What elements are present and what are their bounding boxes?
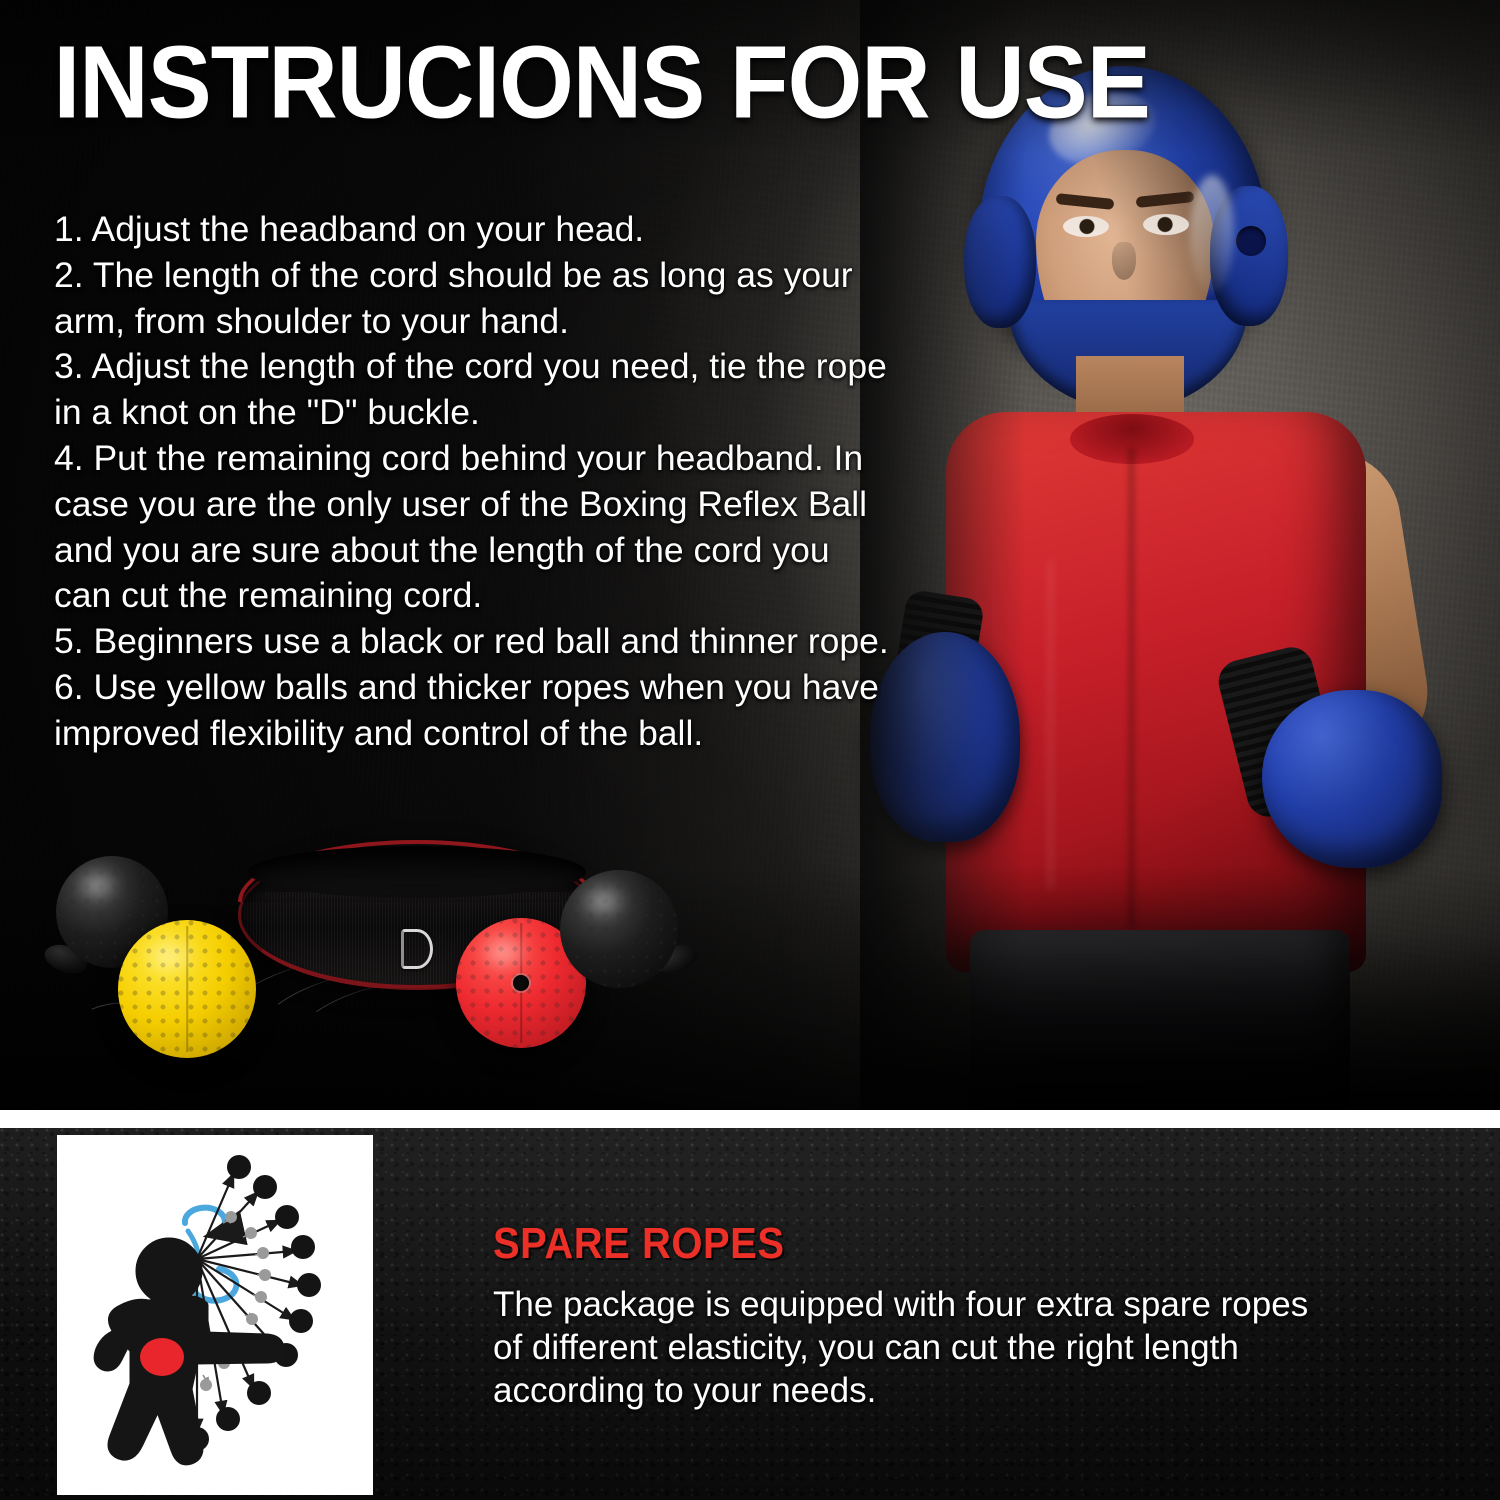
instruction-line: and you are sure about the length of the… — [54, 528, 934, 574]
instruction-line: 1. Adjust the headband on your head. — [54, 207, 934, 253]
page-title-text: INSTRUCIONS FOR USE — [54, 34, 1150, 132]
instruction-line: improved flexibility and control of the … — [54, 711, 934, 757]
spare-ropes-line: The package is equipped with four extra … — [493, 1283, 1333, 1326]
ball-highlight — [74, 867, 121, 903]
instruction-line: 2. The length of the cord should be as l… — [54, 253, 934, 299]
spare-ropes-text-block: SPARE ROPES The package is equipped with… — [493, 1220, 1333, 1412]
instruction-line: can cut the remaining cord. — [54, 573, 934, 619]
impact-marker-icon — [140, 1338, 184, 1376]
spare-ropes-line: according to your needs. — [493, 1369, 1333, 1412]
rebound-diagram-card — [57, 1135, 373, 1495]
product-photo — [42, 818, 722, 1110]
spare-ropes-line: of different elasticity, you can cut the… — [493, 1326, 1333, 1369]
spare-ropes-panel: SPARE ROPES The package is equipped with… — [0, 1128, 1500, 1500]
instruction-list: 1. Adjust the headband on your head. 2. … — [54, 207, 934, 757]
d-buckle — [401, 929, 433, 969]
ball-highlight — [579, 882, 629, 920]
instruction-line: 3. Adjust the length of the cord you nee… — [54, 344, 934, 390]
yellow-ball — [118, 920, 256, 1058]
instruction-line: in a knot on the "D" buckle. — [54, 390, 934, 436]
instruction-line: 4. Put the remaining cord behind your he… — [54, 436, 934, 482]
ball-highlight — [477, 931, 532, 973]
instruction-line: 5. Beginners use a black or red ball and… — [54, 619, 934, 665]
ball-cord-hole — [513, 975, 529, 991]
headband-inner-opening — [248, 846, 586, 898]
panel-separator — [0, 1110, 1500, 1128]
instructions-panel: INSTRUCIONS FOR USE 1. Adjust the headba… — [0, 0, 1500, 1110]
page-title: INSTRUCIONS FOR USE — [48, 34, 1288, 132]
instruction-line: 6. Use yellow balls and thicker ropes wh… — [54, 665, 934, 711]
spare-ropes-body: The package is equipped with four extra … — [493, 1283, 1333, 1412]
rebound-diagram — [57, 1135, 373, 1495]
ball-highlight — [140, 934, 198, 978]
instruction-line: arm, from shoulder to your hand. — [54, 299, 934, 345]
instruction-line: case you are the only user of the Boxing… — [54, 482, 934, 528]
black-ball-right — [560, 870, 678, 988]
infographic-page: INSTRUCIONS FOR USE 1. Adjust the headba… — [0, 0, 1500, 1500]
spare-ropes-heading: SPARE ROPES — [493, 1220, 1333, 1268]
